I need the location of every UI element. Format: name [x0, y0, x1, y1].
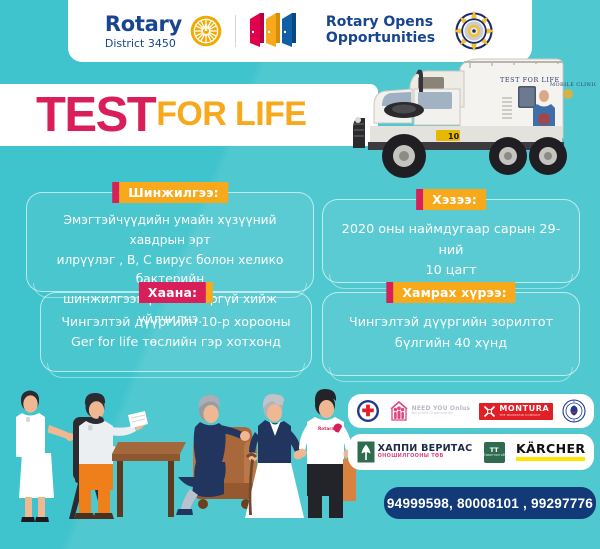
info-text-when: 2020 оны наймдугаар сарын 29-ний 10 цагт [331, 220, 571, 282]
text-line: Ger for life төслийн гэр хотхонд [49, 332, 303, 352]
karcher-name: KÄRCHER [516, 443, 585, 456]
badge-cap-right [206, 282, 213, 303]
happi-tagline: ОНОШИЛГООНЫ ТӨВ [378, 454, 473, 459]
karcher-yellow-bar [516, 457, 585, 461]
sponsor-card-row-1: NEED YOU Onlus No profit Organization MO… [348, 394, 594, 428]
ministry-seal-icon [562, 399, 586, 423]
info-box-when: Хэзээ: 2020 оны наймдугаар сарын 29-ний … [322, 199, 580, 283]
poster-root: Rotaract Rotary District 3450 [0, 0, 600, 549]
montura-logo-icon: MONTURA THE MOUNTAIN COMPANY [479, 403, 553, 420]
text-line: 10 цагт [331, 261, 571, 282]
sponsor-card-row-2: ХАППИ ВЕРИТАС ОНОШИЛГООНЫ ТӨВ ТТ Таванто… [348, 434, 594, 470]
figure-elderly-woman [245, 394, 304, 518]
badge-label: Шинжилгээ: [119, 182, 228, 203]
badge-analysis: Шинжилгээ: [112, 182, 228, 203]
need-you-onlus-icon [389, 400, 409, 422]
badge-scope: Хамрах хүрээ: [386, 282, 515, 303]
rotary-wordmark: Rotary District 3450 [105, 14, 182, 49]
montura-mark-icon [483, 405, 496, 418]
badge-cap-left [386, 282, 393, 303]
badge-where: Хаана: [139, 282, 213, 303]
figure-nurse [16, 391, 74, 523]
opens-line-1: Rotary Opens [326, 15, 435, 31]
svg-text:10: 10 [448, 132, 460, 141]
montura-tagline: THE MOUNTAIN COMPANY [499, 414, 549, 417]
truck-wheel [489, 137, 527, 175]
contact-phone-bar[interactable]: 94999598, 80008101 , 99297776 [384, 487, 596, 519]
title-main: TEST [36, 91, 155, 140]
text-line: 2020 оны наймдугаар сарын 29-ний [331, 220, 571, 261]
rotary-lockup: Rotary District 3450 [105, 14, 223, 49]
need-you-onlus-logo: NEED YOU Onlus No profit Organization [389, 400, 471, 422]
info-text-where: Чингэлтэй дүүргийн 10-р хорооны Ger for … [49, 312, 303, 353]
info-box-analysis: Шинжилгээ: Эмэгтэйчүүдийн умайн хүзүүний… [26, 192, 314, 292]
text-line: бүлгийн 40 хүнд [331, 334, 571, 355]
rotary-gear-icon [189, 14, 223, 48]
tt-tagline: Тавантолгой [484, 454, 505, 457]
badge-label: Хамрах хүрээ: [393, 282, 515, 303]
info-box-scope: Хамрах хүрээ: Чингэлтэй дүүргийн зорилто… [322, 292, 580, 376]
title-accent: FOR LIFE [156, 97, 306, 133]
info-text-scope: Чингэлтэй дүүргийн зорилтот бүлгийн 40 х… [331, 313, 571, 354]
truck-wheel [382, 134, 426, 178]
rotary-district: District 3450 [105, 38, 182, 49]
mobile-clinic-truck: TEST FOR LIFE MOBILE CLINIC [352, 34, 596, 200]
text-line: Чингэлтэй дүүргийн 10-р хорооны [49, 312, 303, 332]
text-line: Чингэлтэй дүүргийн зорилтот [331, 313, 571, 334]
phone-numbers: 94999598, 80008101 , 99297776 [387, 496, 593, 511]
svg-text:MOBILE CLINIC: MOBILE CLINIC [550, 82, 596, 88]
happi-veritas-icon [357, 441, 375, 463]
poster-title-band: TEST FOR LIFE [0, 84, 378, 146]
karcher-logo-icon: KÄRCHER [516, 443, 585, 461]
desk [112, 442, 186, 517]
header-divider [235, 15, 236, 47]
red-cross-emblem-icon [356, 399, 380, 423]
badge-cap-left [112, 182, 119, 203]
badge-label: Хаана: [139, 282, 206, 303]
text-line: Эмэгтэйчүүдийн умайн хүзүүний хавдрын эр… [35, 211, 305, 251]
happi-veritas-logo: ХАППИ ВЕРИТАС ОНОШИЛГООНЫ ТӨВ [357, 441, 473, 463]
info-box-where: Хаана: Чингэлтэй дүүргийн 10-р хорооны G… [40, 292, 312, 372]
rotary-name: Rotary [105, 14, 182, 35]
rotary-doors-icon [248, 11, 310, 51]
need-you-tagline: No profit Organization [412, 412, 471, 416]
clinic-people-illustration: Rotaract [0, 377, 356, 549]
tavan-tolgoi-icon: ТТ Тавантолгой [484, 442, 505, 463]
truck-wheel [529, 137, 567, 175]
